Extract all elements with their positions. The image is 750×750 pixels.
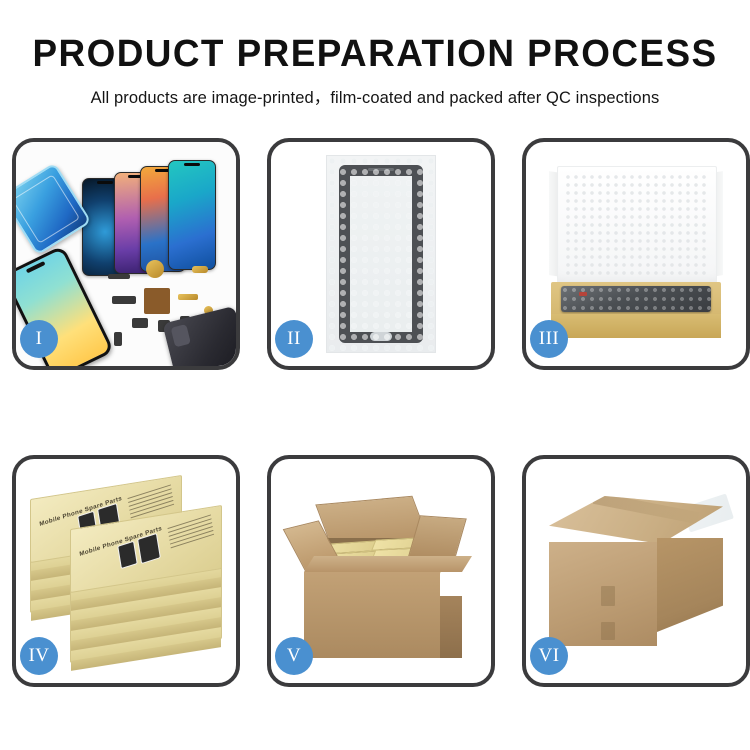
step-badge-6: VI <box>530 637 568 675</box>
part-chip-grid <box>144 288 170 314</box>
page-subtitle: All products are image-printed，film-coat… <box>0 90 750 107</box>
wrapped-screen-in-box <box>561 286 711 312</box>
page-title: PRODUCT PREPARATION PROCESS <box>11 35 739 73</box>
carton-tab <box>601 586 615 606</box>
carton-front-face <box>304 572 440 658</box>
step-panel-2: II <box>267 138 495 370</box>
step-badge-3: III <box>530 320 568 358</box>
step-badge-5: V <box>275 637 313 675</box>
screen-frame-icon <box>339 165 423 343</box>
step-panel-5: V <box>267 455 495 687</box>
step-panel-6: VI <box>522 455 750 687</box>
step-badge-4: IV <box>20 637 58 675</box>
box-phone-graphic <box>137 533 161 564</box>
part-speaker <box>132 318 148 328</box>
step-badge-1: I <box>20 320 58 358</box>
part-coil <box>146 260 164 278</box>
box-spec-lines <box>167 514 214 551</box>
sealed-carton-photo <box>543 496 729 646</box>
phone-icon-teal <box>168 160 216 270</box>
process-steps-grid: I II <box>12 138 738 687</box>
part-bracket <box>112 296 136 304</box>
part-gold-strip <box>178 294 198 300</box>
part-flex-cable <box>192 266 208 273</box>
label-mark <box>579 292 587 296</box>
open-carton-photo <box>286 482 476 660</box>
kraft-tray <box>551 282 721 338</box>
carton-tab <box>601 622 615 640</box>
notch-icon <box>184 163 200 166</box>
part-sim-tray <box>114 332 122 346</box>
tray-front-face <box>551 314 721 338</box>
step-panel-3: III <box>522 138 750 370</box>
open-kraft-box-photo <box>545 166 727 342</box>
step-badge-2: II <box>275 320 313 358</box>
notch-icon <box>97 181 113 184</box>
bubble-wrap-photo <box>327 156 435 352</box>
foam-insert <box>557 166 717 284</box>
step-panel-4: Mobile Phone Spare Parts Mobile Phone Sp… <box>12 455 240 687</box>
step-panel-1: I <box>12 138 240 370</box>
carton-right-face <box>657 538 723 632</box>
stacked-boxes-photo: Mobile Phone Spare Parts Mobile Phone Sp… <box>28 481 224 661</box>
part-connector <box>108 274 130 279</box>
carton-top-edge <box>304 556 472 572</box>
box-phone-graphic <box>117 541 138 569</box>
header: PRODUCT PREPARATION PROCESS All products… <box>0 0 750 107</box>
carton-front-face <box>549 542 657 646</box>
carton-side-face <box>440 596 462 658</box>
product-preparation-infographic: PRODUCT PREPARATION PROCESS All products… <box>0 0 750 750</box>
carton-seam <box>593 492 699 524</box>
